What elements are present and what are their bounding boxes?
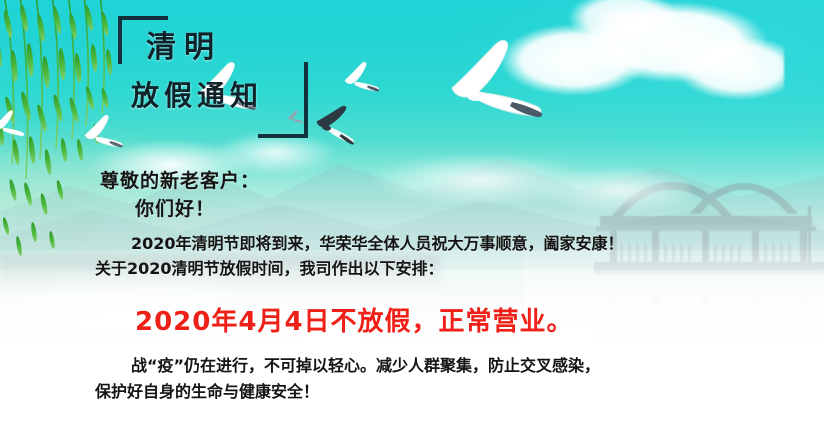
paragraph-intro: 2020年清明节即将到来，华荣华全体人员祝大万事顺意，阖家安康！ 关于2020清… [95, 231, 695, 281]
paragraph-reminder-line1: 战“疫”仍在进行，不可掉以轻心。减少人群聚集，防止交叉感染， [131, 356, 600, 375]
highlight-notice: 2020年4月4日不放假，正常营业。 [135, 301, 574, 338]
paragraph-intro-line1: 2020年清明节即将到来，华荣华全体人员祝大万事顺意，阖家安康！ [131, 234, 624, 253]
paragraph-reminder-line2: 保护好自身的生命与健康安全！ [95, 379, 695, 405]
paragraph-intro-line2: 关于2020清明节放假时间，我司作出以下安排： [95, 256, 695, 281]
paragraph-reminder: 战“疫”仍在进行，不可掉以轻心。减少人群聚集，防止交叉感染， 保护好自身的生命与… [95, 353, 695, 405]
greeting-text: 你们好！ [135, 194, 215, 221]
salutation-text: 尊敬的新老客户： [100, 166, 260, 193]
qingming-holiday-notice-poster: 清明 放假通知 尊敬的新老客户： 你们好！ 2020年清明节即将到来，华荣华全体… [0, 0, 824, 438]
notice-body: 尊敬的新老客户： 你们好！ 2020年清明节即将到来，华荣华全体人员祝大万事顺意… [0, 0, 824, 438]
